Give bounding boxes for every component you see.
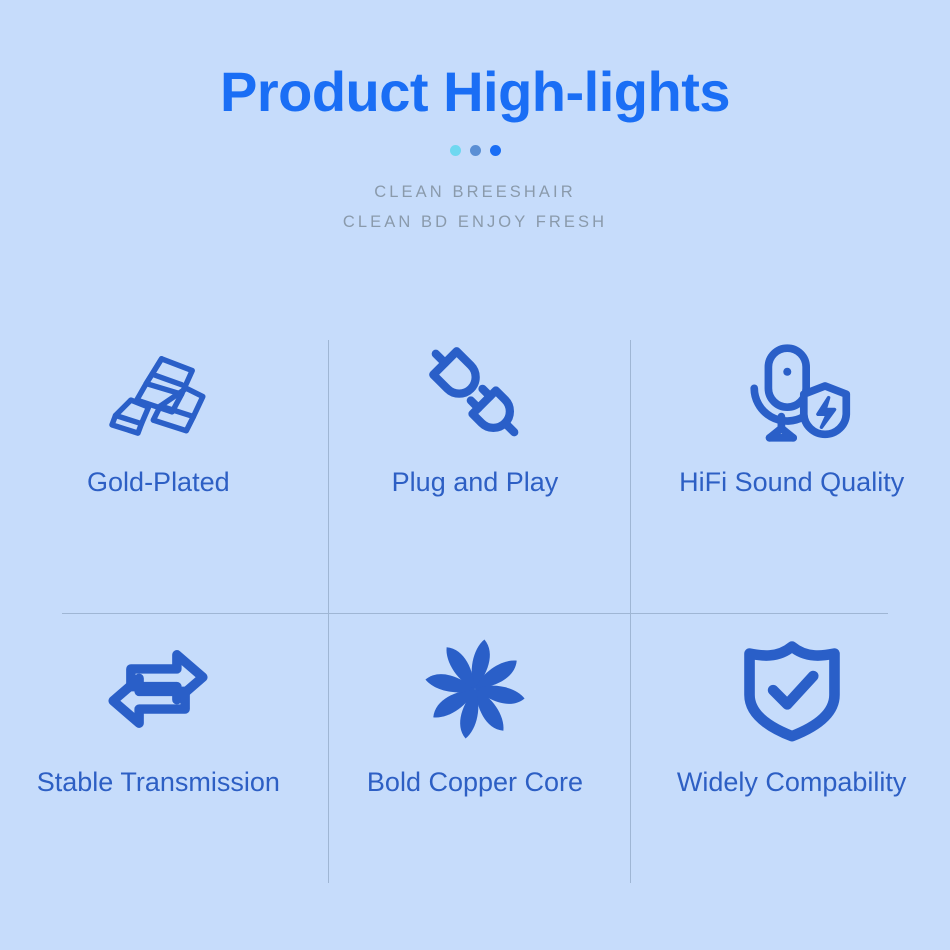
dot-2-icon (470, 145, 481, 156)
plug-and-socket-icon (416, 334, 534, 452)
feature-cell-stable-transmission[interactable]: Stable Transmission (0, 608, 317, 898)
microphone-shield-icon (733, 334, 851, 452)
feature-cell-gold-plated[interactable]: Gold-Plated (0, 318, 317, 608)
feature-cell-widely-compability[interactable]: Widely Compability (633, 608, 950, 898)
subtitle-block: CLEAN BREESHAIR CLEAN BD ENJOY FRESH (0, 178, 950, 237)
feature-grid: Gold-Plated (0, 318, 950, 898)
subtitle-line-2: CLEAN BD ENJOY FRESH (0, 208, 950, 237)
dot-1-icon (450, 145, 461, 156)
grid-divider-horizontal (62, 613, 888, 614)
grid-divider-vertical-right (630, 340, 631, 883)
header: Product High-lights CLEAN BREESHAIR CLEA… (0, 0, 950, 237)
feature-label: HiFi Sound Quality (679, 466, 904, 498)
feature-label: Plug and Play (392, 466, 559, 498)
feature-grid-wrapper: Gold-Plated (0, 318, 950, 898)
feature-cell-hifi-sound-quality[interactable]: HiFi Sound Quality (633, 318, 950, 608)
transfer-arrows-icon (99, 630, 217, 748)
feature-cell-bold-copper-core[interactable]: Bold Copper Core (317, 608, 634, 898)
feature-label: Stable Transmission (37, 766, 280, 798)
gold-bars-icon (99, 334, 217, 452)
shield-check-icon (733, 630, 851, 748)
dot-3-icon (490, 145, 501, 156)
grid-divider-vertical-left (328, 340, 329, 883)
subtitle-line-1: CLEAN BREESHAIR (0, 178, 950, 207)
feature-label: Bold Copper Core (367, 766, 583, 798)
page-title: Product High-lights (0, 62, 950, 122)
feature-label: Gold-Plated (87, 466, 230, 498)
feature-label: Widely Compability (677, 766, 907, 798)
feature-cell-plug-and-play[interactable]: Plug and Play (317, 318, 634, 608)
dot-indicator-row (0, 144, 950, 156)
fan-pinwheel-icon (416, 630, 534, 748)
